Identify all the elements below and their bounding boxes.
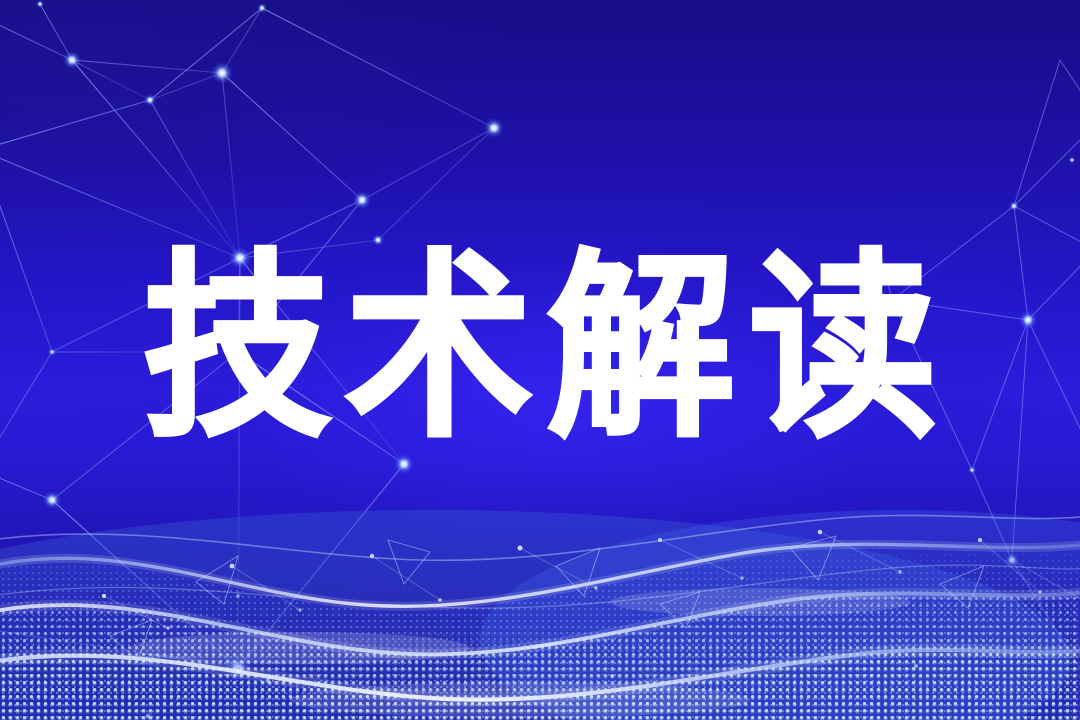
title-block: 技术解读 (0, 248, 1080, 448)
bottom-particle-grid (0, 624, 1080, 720)
banner-canvas: 技术解读 (0, 0, 1080, 720)
page-title: 技术解读 (129, 248, 951, 447)
